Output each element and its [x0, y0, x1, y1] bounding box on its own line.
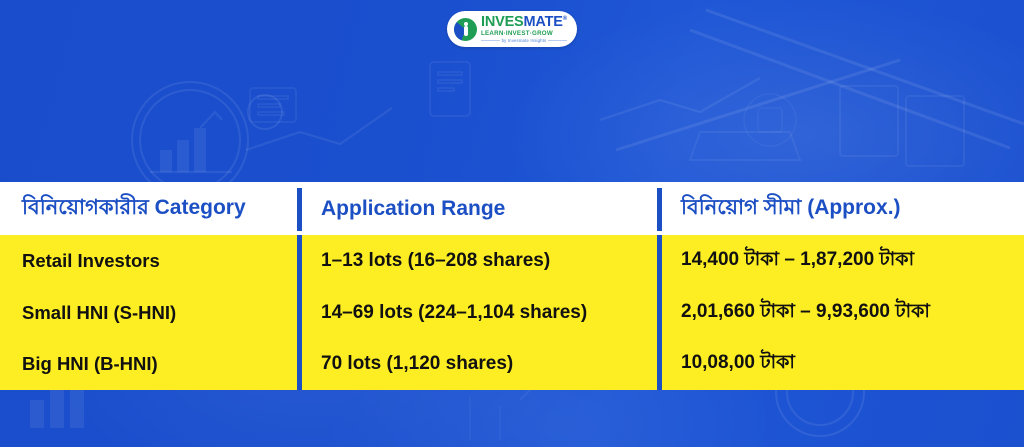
cell-category-big-hni: Big HNI (B-HNI)	[0, 338, 297, 390]
cell-range-retail: 1–13 lots (16–208 shares)	[297, 235, 657, 287]
header-cell-category: বিনিয়োগকারীর Category	[0, 182, 297, 235]
header-col-category: বিনিয়োগকারীর Category	[0, 182, 297, 235]
investor-category-table: বিনিয়োগকারীর Category Application Range…	[0, 182, 1024, 390]
brand-logo-text: INVESMATE® LEARN·INVEST·GROW by Invesmat…	[481, 15, 567, 43]
cell-limit-big-hni: 10,08,00 টাকা	[657, 338, 1024, 390]
logo-i-stem	[464, 26, 468, 36]
cell-category-retail: Retail Investors	[0, 235, 297, 287]
body-col-investment-limit: 14,400 টাকা – 1,87,200 টাকা 2,01,660 টাক…	[657, 235, 1024, 390]
header-cell-application-range: Application Range	[297, 182, 657, 235]
brand-wordmark: INVESMATE®	[481, 15, 567, 30]
body-col-category: Retail Investors Small HNI (S-HNI) Big H…	[0, 235, 297, 390]
cell-range-big-hni: 70 lots (1,120 shares)	[297, 338, 657, 390]
subtitle-rule-right	[548, 40, 567, 41]
table-header-row: বিনিয়োগকারীর Category Application Range…	[0, 182, 1024, 235]
column-divider	[297, 188, 302, 231]
brand-wordmark-inves: INVES	[481, 14, 524, 30]
header-col-investment-limit: বিনিয়োগ সীমা (Approx.)	[657, 182, 1024, 235]
brand-logo[interactable]: INVESMATE® LEARN·INVEST·GROW by Invesmat…	[447, 11, 577, 47]
column-divider	[297, 235, 302, 390]
registered-trademark-icon: ®	[563, 16, 567, 22]
logo-i-dot	[464, 22, 468, 26]
brand-subtitle-wrap: by Invesmate Insights	[481, 39, 567, 43]
brand-wordmark-mate: MATE	[524, 14, 563, 30]
infographic-page: INVESMATE® LEARN·INVEST·GROW by Invesmat…	[0, 0, 1024, 447]
cell-range-small-hni: 14–69 lots (224–1,104 shares)	[297, 287, 657, 339]
cell-category-small-hni: Small HNI (S-HNI)	[0, 287, 297, 339]
header-col-application-range: Application Range	[297, 182, 657, 235]
header-cell-investment-limit: বিনিয়োগ সীমা (Approx.)	[657, 182, 1024, 235]
column-divider	[657, 235, 662, 390]
cell-limit-small-hni: 2,01,660 টাকা – 9,93,600 টাকা	[657, 287, 1024, 339]
brand-tagline: LEARN·INVEST·GROW	[481, 31, 567, 37]
invesmate-logo-icon	[454, 18, 477, 41]
cell-limit-retail: 14,400 টাকা – 1,87,200 টাকা	[657, 235, 1024, 287]
brand-subtitle: by Invesmate Insights	[502, 39, 547, 43]
body-col-application-range: 1–13 lots (16–208 shares) 14–69 lots (22…	[297, 235, 657, 390]
table-body: Retail Investors Small HNI (S-HNI) Big H…	[0, 235, 1024, 390]
subtitle-rule-left	[481, 40, 500, 41]
column-divider	[657, 188, 662, 231]
